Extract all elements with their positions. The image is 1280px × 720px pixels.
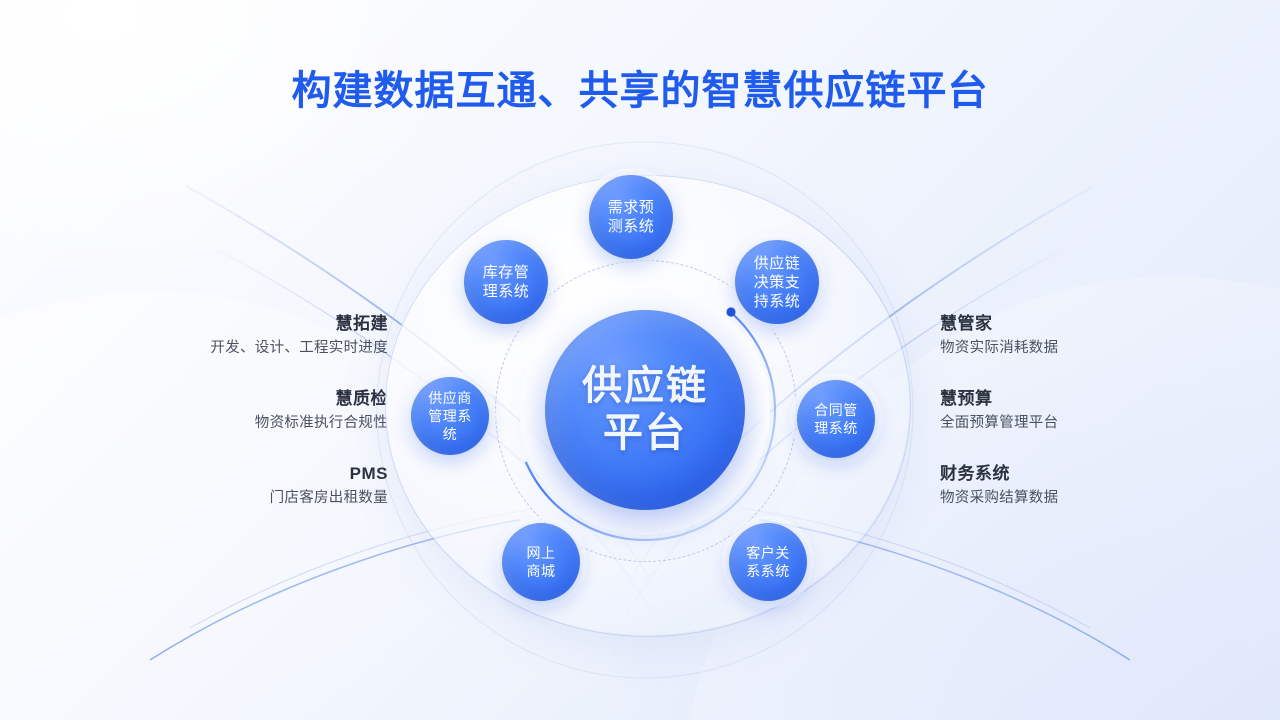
core-label: 供应链 平台 [582, 363, 708, 457]
node-supply-chain-decision-support-system[interactable]: 供应链 决策支 持系统 [735, 240, 819, 324]
right-item-2: 财务系统 物资采购结算数据 [940, 462, 1180, 511]
node-supplier-management-system[interactable]: 供应商 管理系 统 [411, 377, 489, 455]
left-item-1-title: 慧质检 [148, 387, 388, 411]
node-customer-relationship-system[interactable]: 客户关 系系统 [729, 523, 807, 601]
page-title: 构建数据互通、共享的智慧供应链平台 [0, 58, 1280, 116]
left-item-0-desc: 开发、设计、工程实时进度 [148, 336, 388, 361]
left-item-2: PMS 门店客房出租数量 [148, 462, 388, 511]
left-item-1: 慧质检 物资标准执行合规性 [148, 387, 388, 436]
slide-canvas: 构建数据互通、共享的智慧供应链平台 慧拓建 开发、设计、工程实时进度 慧质检 物… [0, 0, 1280, 720]
right-item-0-title: 慧管家 [940, 312, 1180, 336]
left-label-column: 慧拓建 开发、设计、工程实时进度 慧质检 物资标准执行合规性 PMS 门店客房出… [148, 312, 388, 511]
node-5-label: 供应商 管理系 统 [428, 389, 472, 443]
node-3-label: 客户关 系系统 [746, 544, 790, 580]
node-demand-forecast-system[interactable]: 需求预 测系统 [589, 175, 673, 259]
left-item-2-desc: 门店客房出租数量 [148, 486, 388, 511]
node-1-label: 供应链 决策支 持系统 [754, 254, 801, 311]
node-inventory-management-system[interactable]: 库存管 理系统 [464, 240, 548, 324]
right-item-1-desc: 全面预算管理平台 [940, 411, 1180, 436]
supply-chain-diagram: 供应链 平台 需求预 测系统 供应链 决策支 持系统 合同管 理系统 客户关 系… [365, 155, 925, 665]
orbit-marker-dot [726, 307, 735, 316]
left-item-0-title: 慧拓建 [148, 312, 388, 336]
node-6-label: 库存管 理系统 [483, 263, 530, 301]
right-item-1-title: 慧预算 [940, 387, 1180, 411]
node-0-label: 需求预 测系统 [608, 198, 655, 236]
node-2-label: 合同管 理系统 [814, 401, 858, 437]
node-4-label: 网上 商城 [527, 544, 556, 580]
right-item-0-desc: 物资实际消耗数据 [940, 336, 1180, 361]
right-item-1: 慧预算 全面预算管理平台 [940, 387, 1180, 436]
right-item-2-title: 财务系统 [940, 462, 1180, 486]
left-item-0: 慧拓建 开发、设计、工程实时进度 [148, 312, 388, 361]
core-sphere[interactable]: 供应链 平台 [545, 310, 745, 510]
left-item-1-desc: 物资标准执行合规性 [148, 411, 388, 436]
right-item-0: 慧管家 物资实际消耗数据 [940, 312, 1180, 361]
node-online-mall[interactable]: 网上 商城 [502, 523, 580, 601]
left-item-2-title: PMS [148, 462, 388, 486]
right-item-2-desc: 物资采购结算数据 [940, 486, 1180, 511]
right-label-column: 慧管家 物资实际消耗数据 慧预算 全面预算管理平台 财务系统 物资采购结算数据 [940, 312, 1180, 511]
node-contract-management-system[interactable]: 合同管 理系统 [797, 380, 875, 458]
